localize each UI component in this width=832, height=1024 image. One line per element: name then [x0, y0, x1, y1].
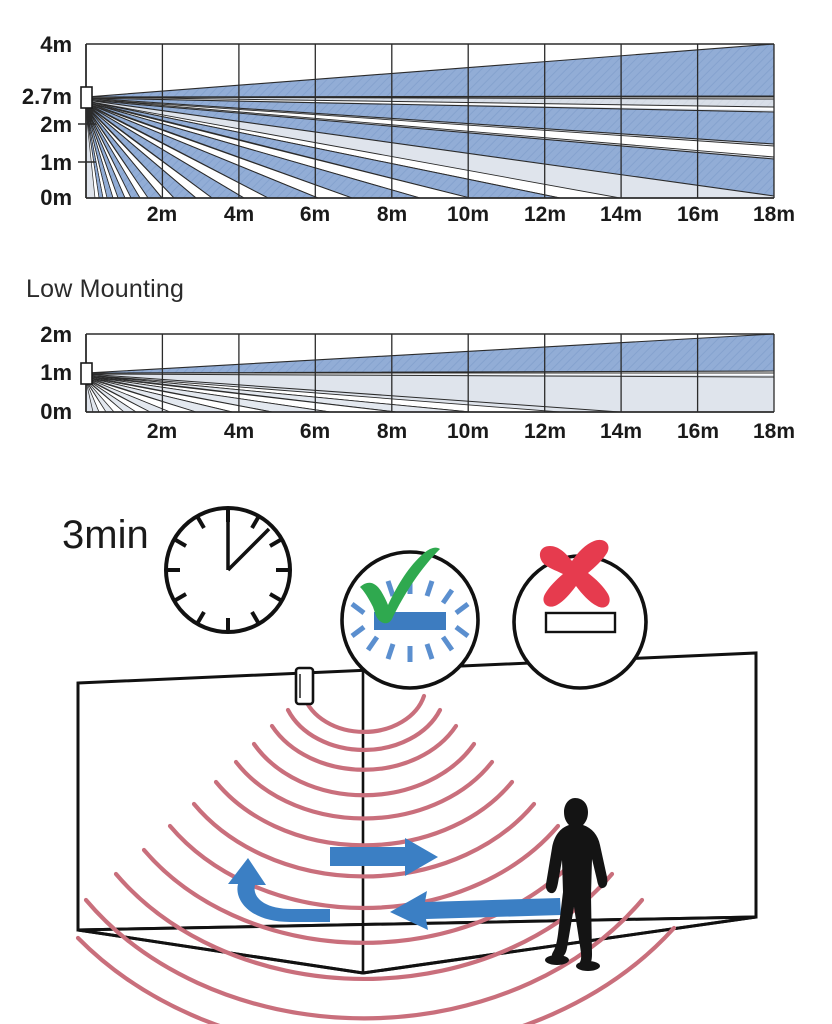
y-tick-label: 4m [40, 32, 72, 57]
x-tick-label: 16m [677, 420, 719, 443]
x-tick-label: 14m [600, 420, 642, 443]
x-tick-label: 4m [224, 203, 254, 226]
sensor-body [296, 668, 313, 704]
chart-low-mounting-svg: 2m 1m 0m 2m 4m 6m 8m 10m 12m 14m 16m 18m [0, 318, 832, 446]
room-scene-figure: 3min [0, 460, 832, 1020]
x-tick-label: 12m [524, 420, 566, 443]
x-tick-label: 8m [377, 203, 407, 226]
x-tick-label: 16m [677, 203, 719, 226]
chart-high-mounting: 4m 2.7m 2m 1m 0m 2m 4m 6m 8m 10m 12m 14m… [0, 24, 832, 224]
x-tick-label: 12m [524, 203, 566, 226]
sensor-bar-inactive [546, 613, 615, 632]
x-tick-label: 6m [300, 203, 330, 226]
x-tick-label: 10m [447, 420, 489, 443]
good-option-group[interactable] [342, 548, 478, 688]
person-foot-right [576, 961, 600, 971]
x-tick-label: 8m [377, 420, 407, 443]
x-tick-label: 18m [753, 420, 795, 443]
y-tick-label: 2m [40, 112, 72, 137]
chart-high-mounting-svg: 4m 2.7m 2m 1m 0m 2m 4m 6m 8m 10m 12m 14m… [0, 24, 832, 224]
x-tick-label: 6m [300, 420, 330, 443]
sensor-marker-high [81, 87, 92, 108]
timer-label: 3min [62, 513, 149, 557]
x-tick-label: 4m [224, 420, 254, 443]
y-tick-label: 0m [40, 185, 72, 210]
analog-clock-icon [166, 508, 290, 632]
y-tick-label: 1m [40, 360, 72, 385]
diagram-page: 4m 2.7m 2m 1m 0m 2m 4m 6m 8m 10m 12m 14m… [0, 0, 832, 1024]
wall-sensor-device [296, 668, 313, 704]
y-tick-label: 2m [40, 322, 72, 347]
low-mounting-title: Low Mounting [26, 275, 184, 304]
chart-low-mounting: 2m 1m 0m 2m 4m 6m 8m 10m 12m 14m 16m 18m [0, 318, 832, 446]
person-foot-left [545, 955, 569, 965]
y-tick-label: 0m [40, 399, 72, 424]
bad-option-group[interactable] [514, 540, 646, 688]
room-back-wall [78, 653, 756, 930]
y-tick-label: 1m [40, 150, 72, 175]
room-scene-svg: 3min [0, 460, 832, 1020]
sensor-marker-low [81, 363, 92, 384]
y-tick-label: 2.7m [22, 84, 72, 109]
x-tick-label: 10m [447, 203, 489, 226]
motion-arrow-curve [228, 858, 330, 922]
x-tick-label: 14m [600, 203, 642, 226]
x-tick-label: 2m [147, 203, 177, 226]
x-tick-label: 2m [147, 420, 177, 443]
x-tick-label: 18m [753, 203, 795, 226]
motion-arrows [228, 838, 561, 930]
